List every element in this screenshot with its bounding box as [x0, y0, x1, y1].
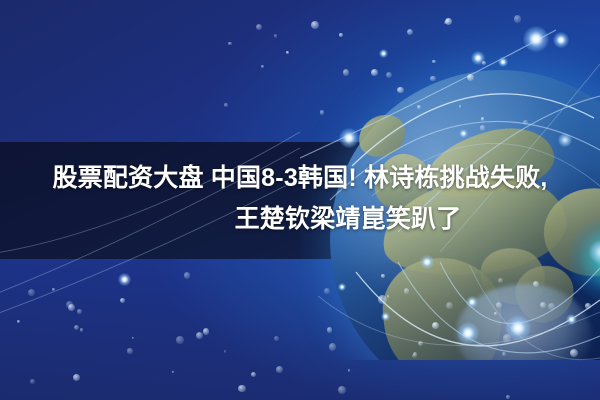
background-band-bottom [0, 259, 600, 400]
banner-image: 股票配资大盘 中国8-3韩国! 林诗栋挑战失败, 王楚钦梁靖崑笑趴了 [0, 0, 600, 400]
headline-line-1: 股票配资大盘 中国8-3韩国! 林诗栋挑战失败, [0, 158, 600, 199]
background-band-top [0, 0, 600, 142]
headline: 股票配资大盘 中国8-3韩国! 林诗栋挑战失败, 王楚钦梁靖崑笑趴了 [0, 158, 600, 240]
headline-line-2: 王楚钦梁靖崑笑趴了 [0, 199, 600, 240]
